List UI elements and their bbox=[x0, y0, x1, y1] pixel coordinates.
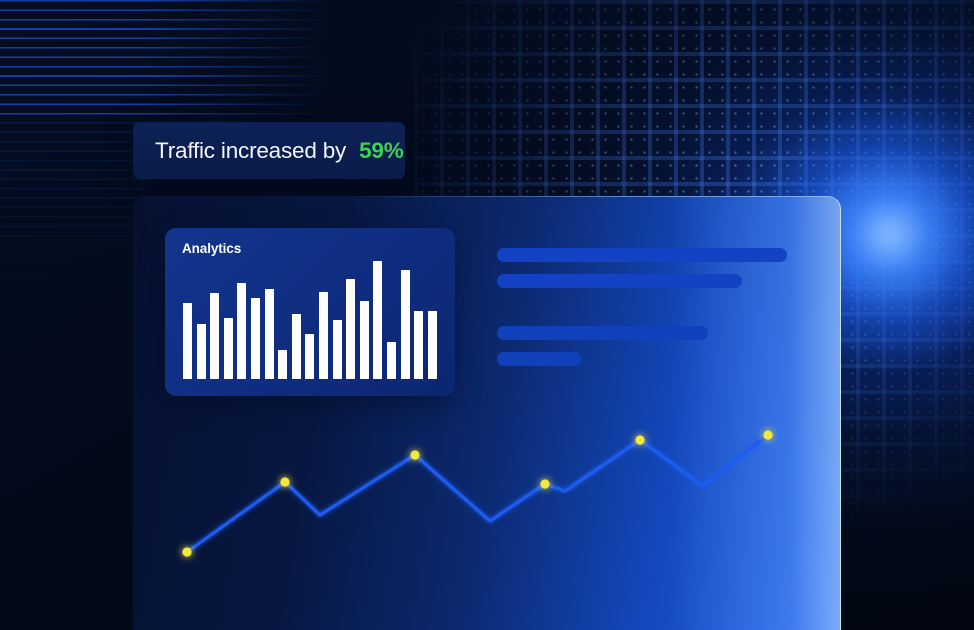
analytics-bar-chart bbox=[183, 261, 439, 379]
analytics-bar bbox=[401, 270, 410, 379]
skeleton-line-2 bbox=[497, 274, 742, 288]
analytics-bar bbox=[278, 350, 287, 380]
analytics-bar bbox=[183, 303, 192, 379]
analytics-bar bbox=[292, 314, 301, 379]
analytics-bar bbox=[197, 324, 206, 379]
analytics-bar bbox=[265, 289, 274, 379]
promo-illustration: Traffic increased by 59% Analytics bbox=[0, 0, 974, 630]
analytics-bar bbox=[346, 279, 355, 379]
analytics-card-title: Analytics bbox=[182, 241, 241, 256]
analytics-card[interactable]: Analytics bbox=[165, 228, 455, 396]
skeleton-line-3 bbox=[497, 326, 708, 340]
analytics-bar bbox=[319, 292, 328, 379]
analytics-bar bbox=[237, 283, 246, 379]
traffic-badge-label: Traffic increased by bbox=[155, 138, 346, 164]
analytics-bar bbox=[210, 293, 219, 379]
analytics-bar bbox=[360, 301, 369, 379]
analytics-bar bbox=[414, 311, 423, 379]
skeleton-line-1 bbox=[497, 248, 787, 262]
analytics-bar bbox=[428, 311, 437, 379]
analytics-bar bbox=[373, 261, 382, 379]
traffic-badge-metric: 59% bbox=[359, 138, 403, 164]
analytics-bar bbox=[387, 342, 396, 379]
skeleton-line-4 bbox=[497, 352, 581, 366]
analytics-bar bbox=[305, 334, 314, 379]
analytics-bar bbox=[333, 320, 342, 379]
traffic-badge: Traffic increased by 59% bbox=[133, 122, 405, 179]
dashboard-panel: Analytics bbox=[133, 196, 841, 630]
analytics-bar bbox=[251, 298, 260, 379]
analytics-bar bbox=[224, 318, 233, 379]
scanline-texture-left bbox=[0, 0, 150, 300]
